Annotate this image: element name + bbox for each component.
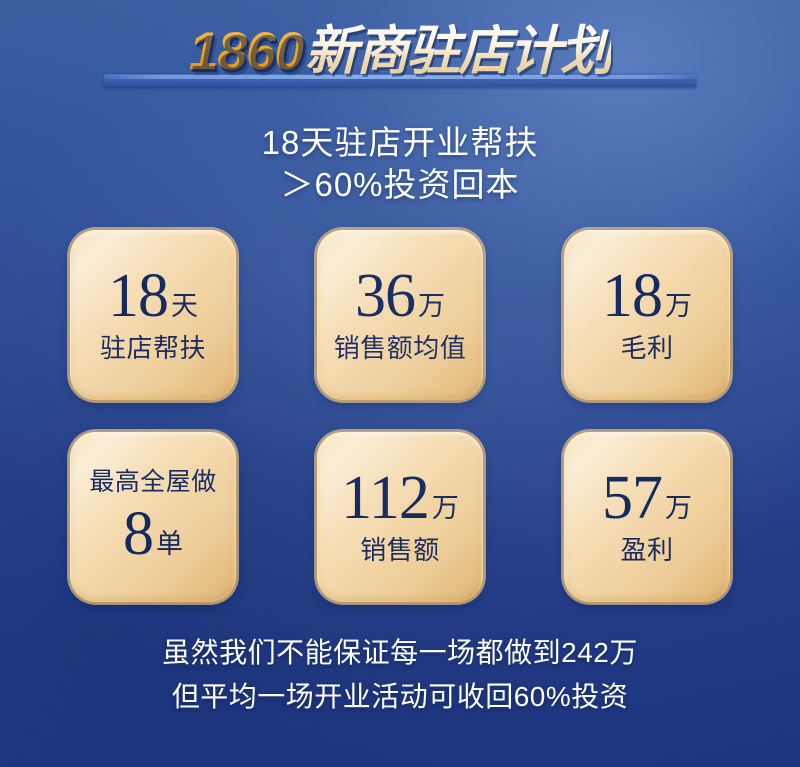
stat-value-row: 18 万 xyxy=(602,267,692,327)
stat-label: 最高全屋做 xyxy=(89,469,217,497)
poster-header: 1860新商驻店计划 xyxy=(0,22,800,100)
subtitle-line-2: ＞60%投资回本 xyxy=(0,164,800,206)
stat-value-row: 36 万 xyxy=(355,267,445,327)
stat-card-average-sales: 36 万 销售额均值 xyxy=(317,230,483,400)
poster-footer: 虽然我们不能保证每一场都做到242万 但平均一场开业活动可收回60%投资 xyxy=(0,631,800,719)
stat-card-gross-profit: 18 万 毛利 xyxy=(564,230,730,400)
stat-label: 销售额均值 xyxy=(334,334,467,363)
stat-value-row: 18 天 xyxy=(108,267,198,327)
stat-unit: 万 xyxy=(418,293,445,320)
stat-label: 毛利 xyxy=(620,334,673,363)
stat-value: 8 xyxy=(123,505,153,565)
poster-subtitle: 18天驻店开业帮扶 ＞60%投资回本 xyxy=(0,122,800,206)
stat-unit: 天 xyxy=(171,293,198,320)
stat-value-row: 112 万 xyxy=(341,469,459,529)
promo-poster: 1860新商驻店计划 18天驻店开业帮扶 ＞60%投资回本 18 天 驻店帮扶 … xyxy=(0,0,800,767)
stat-unit: 万 xyxy=(432,495,459,522)
stat-value: 57 xyxy=(602,469,662,529)
stat-value: 18 xyxy=(108,267,168,327)
stat-card-net-profit: 57 万 盈利 xyxy=(564,432,730,602)
title-number: 1860 xyxy=(189,22,305,82)
title-chinese-text: 新商驻店计划 xyxy=(305,22,611,82)
stat-unit: 万 xyxy=(665,293,692,320)
stat-value: 36 xyxy=(355,267,415,327)
stat-value-row: 57 万 xyxy=(602,469,692,529)
stat-value: 112 xyxy=(341,469,429,529)
stat-value-row: 8 单 xyxy=(123,505,183,565)
stat-label: 销售额 xyxy=(360,536,440,565)
footer-line-1: 虽然我们不能保证每一场都做到242万 xyxy=(0,631,800,675)
stat-value: 18 xyxy=(602,267,662,327)
stat-card-total-sales: 112 万 销售额 xyxy=(317,432,483,602)
stat-unit: 万 xyxy=(665,495,692,522)
stat-label: 盈利 xyxy=(620,536,673,565)
stat-card-max-whole-house-orders: 8 单 最高全屋做 xyxy=(70,432,236,602)
stat-label: 驻店帮扶 xyxy=(100,334,206,363)
stat-card-driving-days: 18 天 驻店帮扶 xyxy=(70,230,236,400)
stat-unit: 单 xyxy=(156,531,183,558)
stat-card-grid: 18 天 驻店帮扶 36 万 销售额均值 18 万 毛利 8 单 最高全屋做 xyxy=(70,230,730,602)
page-title: 1860新商驻店计划 xyxy=(0,22,800,82)
subtitle-line-1: 18天驻店开业帮扶 xyxy=(0,122,800,164)
footer-line-2: 但平均一场开业活动可收回60%投资 xyxy=(0,675,800,719)
